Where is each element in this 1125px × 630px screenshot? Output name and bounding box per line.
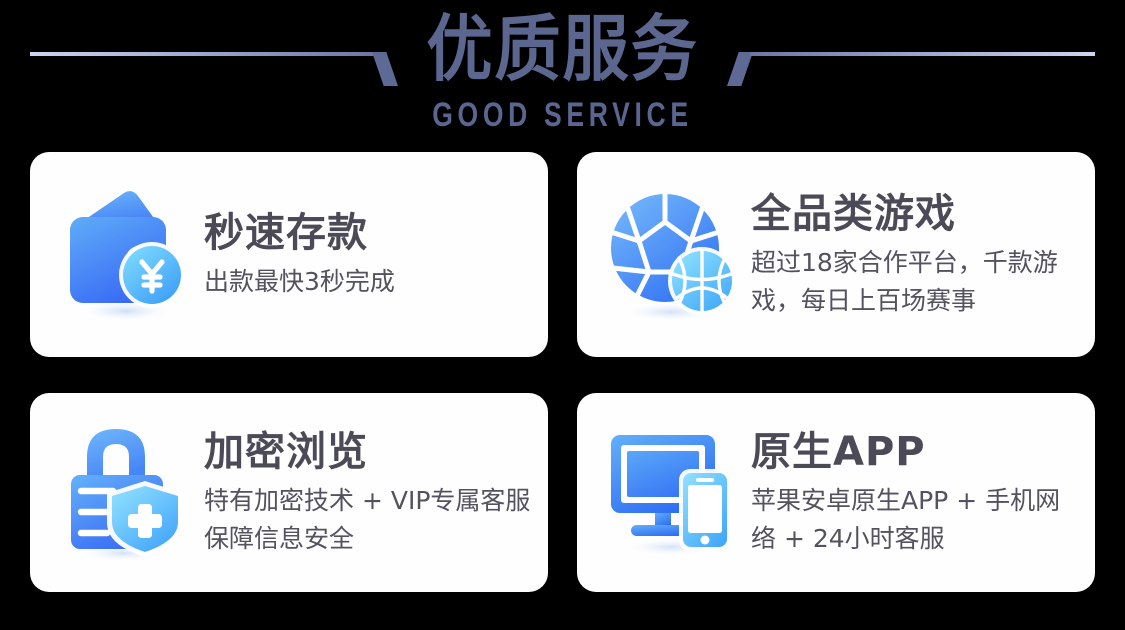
card-subtitle: 超过18家合作平台，千款游戏，每日上百场赛事 — [751, 244, 1081, 320]
card-text-deposit: 秒速存款 出款最快3秒完成 — [196, 209, 548, 301]
soccer-basketball-icon — [603, 180, 743, 330]
wallet-coin-icon — [56, 180, 196, 330]
promo-banner: 优质服务 GOOD SERVICE — [0, 0, 1125, 630]
feature-card-native-app[interactable]: 原生APP 苹果安卓原生APP + 手机网络 + 24小时客服 — [577, 393, 1095, 592]
card-text-games: 全品类游戏 超过18家合作平台，千款游戏，每日上百场赛事 — [743, 190, 1095, 320]
feature-card-deposit[interactable]: 秒速存款 出款最快3秒完成 — [30, 152, 548, 357]
card-text-native-app: 原生APP 苹果安卓原生APP + 手机网络 + 24小时客服 — [743, 428, 1095, 558]
card-subtitle: 出款最快3秒完成 — [204, 263, 538, 301]
card-title: 全品类游戏 — [751, 190, 1085, 238]
feature-card-games[interactable]: 全品类游戏 超过18家合作平台，千款游戏，每日上百场赛事 — [577, 152, 1095, 357]
feature-card-grid: 秒速存款 出款最快3秒完成 — [30, 152, 1095, 592]
card-title: 加密浏览 — [204, 428, 538, 476]
card-subtitle: 特有加密技术 + VIP专属客服保障信息安全 — [204, 482, 534, 558]
feature-card-encryption[interactable]: 加密浏览 特有加密技术 + VIP专属客服保障信息安全 — [30, 393, 548, 592]
card-title: 秒速存款 — [204, 209, 538, 257]
card-text-encryption: 加密浏览 特有加密技术 + VIP专属客服保障信息安全 — [196, 428, 548, 558]
lock-shield-icon — [56, 418, 196, 568]
card-title: 原生APP — [751, 428, 1085, 476]
card-subtitle: 苹果安卓原生APP + 手机网络 + 24小时客服 — [751, 482, 1081, 558]
page-title: 优质服务 — [45, 10, 1080, 88]
monitor-phone-icon — [603, 418, 743, 568]
banner-header: 优质服务 GOOD SERVICE — [0, 0, 1125, 148]
page-subtitle: GOOD SERVICE — [124, 96, 1002, 134]
